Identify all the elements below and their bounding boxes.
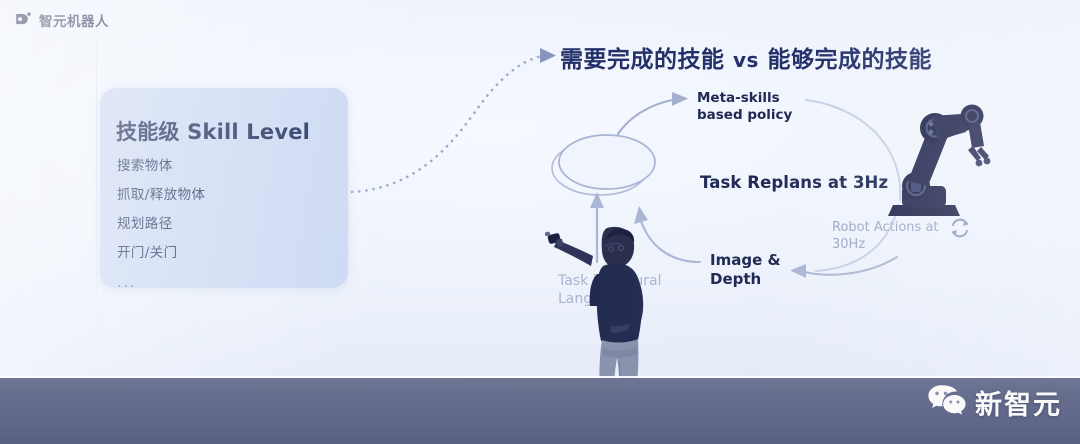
slide-title-right: 能够完成的技能 <box>767 47 932 73</box>
presentation-screenshot: 智元机器人 需要完成的技能 vs 能够完成的技能 技能级 Skill Level… <box>0 0 1080 444</box>
slide-title: 需要完成的技能 vs 能够完成的技能 <box>560 40 932 74</box>
robot-actions-label: Robot Actions at 30Hz <box>832 220 952 253</box>
watermark: 新智元 <box>927 383 1062 422</box>
task-replans-label: Task Replans at 3Hz <box>700 172 888 193</box>
wechat-icon <box>927 383 967 422</box>
meta-skills-label: Meta-skills based policy <box>697 90 817 125</box>
workgpt-node-label: WorkGPT <box>578 153 646 170</box>
agibot-d-mark-icon <box>14 11 32 29</box>
stage-floor <box>0 378 1080 444</box>
list-item-ellipsis: ... <box>117 275 205 291</box>
brand-logo: 智元机器人 <box>14 10 109 30</box>
list-item: 抓取/释放物体 <box>117 183 205 203</box>
list-item: 搜索物体 <box>117 154 205 174</box>
slide-title-left: 需要完成的技能 <box>560 47 725 73</box>
skill-level-card-title: 技能级 Skill Level <box>116 116 310 146</box>
torso-shirt <box>590 264 643 344</box>
watermark-text: 新智元 <box>975 383 1062 422</box>
skill-level-list: 搜索物体 抓取/释放物体 规划路径 开门/关门 ... <box>117 154 205 291</box>
head <box>602 227 634 268</box>
brand-name: 智元机器人 <box>39 10 109 30</box>
wall-seam <box>96 0 97 380</box>
slide-title-vs: vs <box>733 48 759 72</box>
list-item: 开门/关门 <box>117 241 205 261</box>
skill-level-card: 技能级 Skill Level 搜索物体 抓取/释放物体 规划路径 开门/关门 … <box>100 88 348 288</box>
image-depth-label: Image & Depth <box>710 251 790 289</box>
pointing-arm <box>545 231 593 266</box>
list-item: 规划路径 <box>117 212 205 232</box>
